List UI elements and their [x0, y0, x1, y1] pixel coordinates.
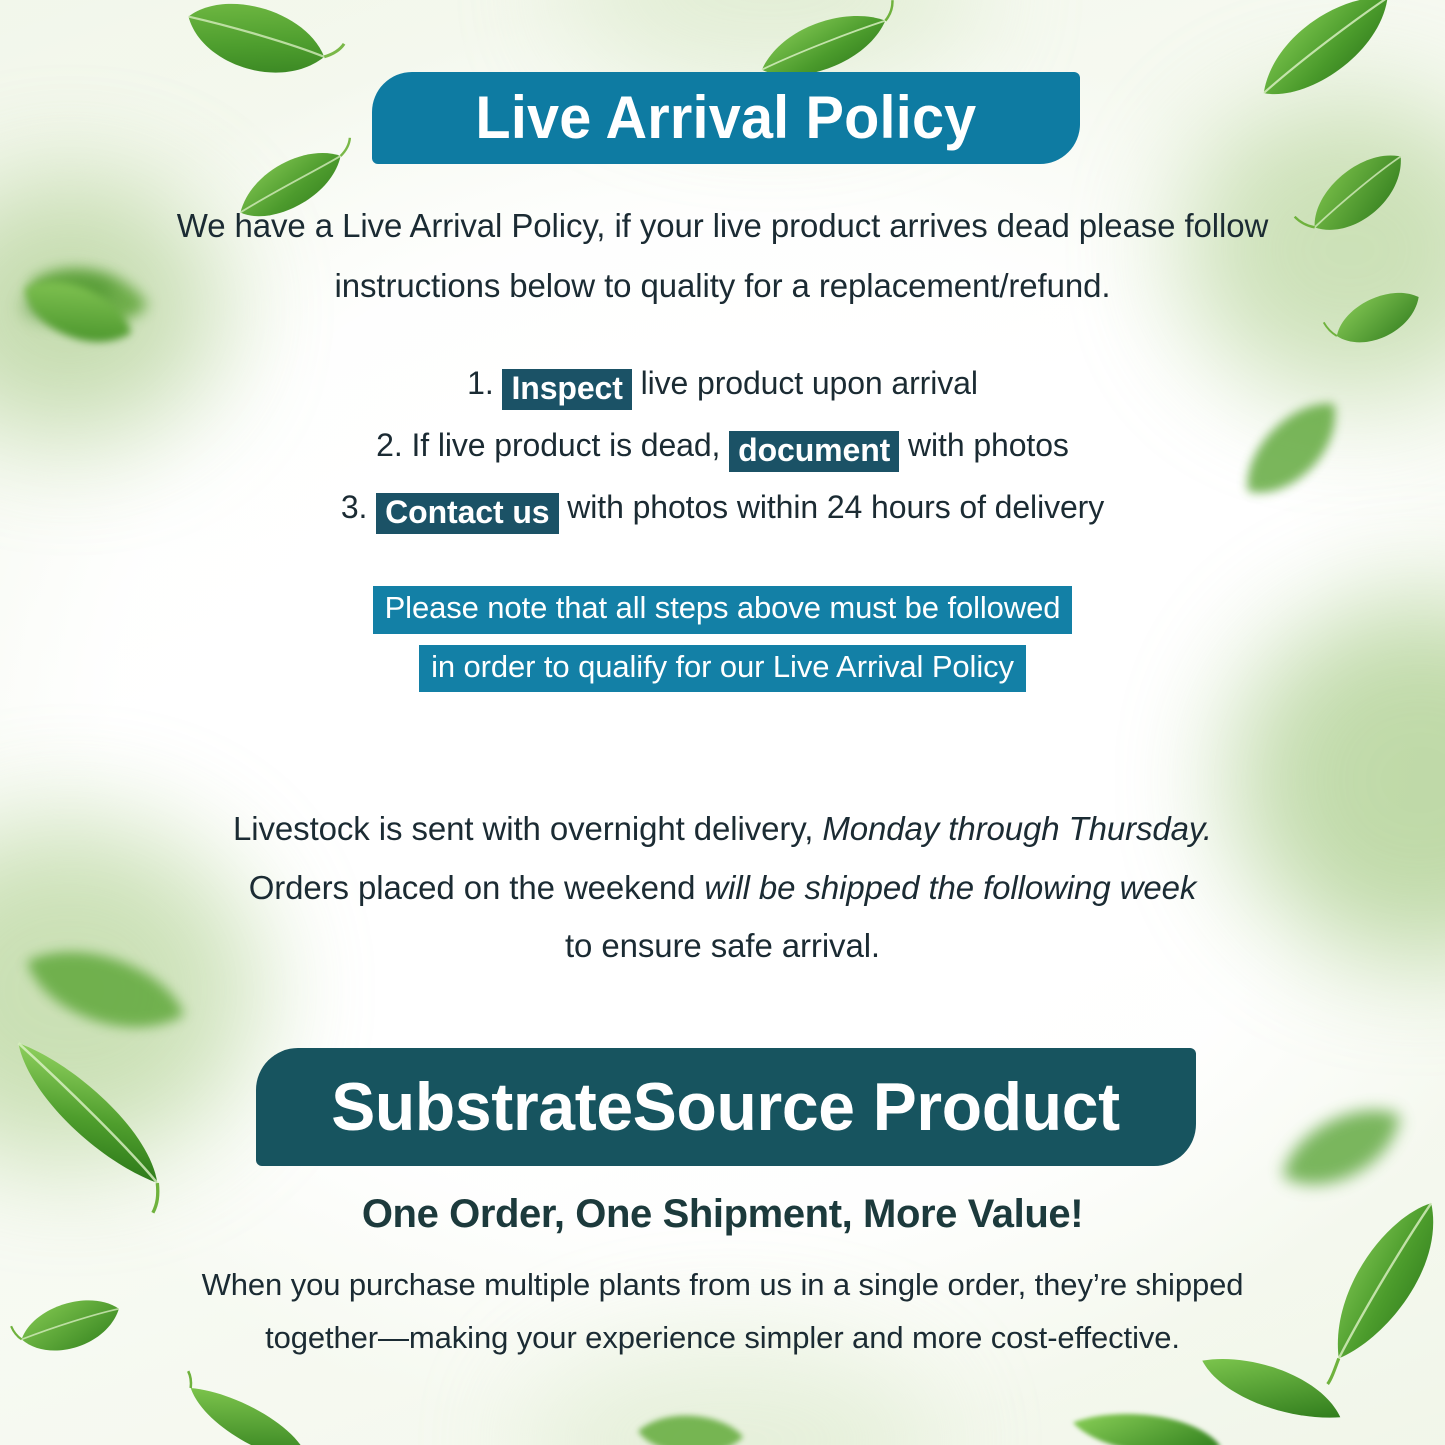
livestock-line-3: to ensure safe arrival. [190, 917, 1255, 976]
livestock-line-2-italic: will be shipped the following week [704, 869, 1196, 906]
livestock-shipping-paragraph: Livestock is sent with overnight deliver… [190, 800, 1255, 976]
livestock-line-1: Livestock is sent with overnight deliver… [190, 800, 1255, 859]
substratesource-product-title: SubstrateSource Product [332, 1073, 1121, 1141]
livestock-line-2: Orders placed on the weekend will be shi… [190, 859, 1255, 918]
note-line-1: Please note that all steps above must be… [373, 586, 1073, 634]
intro-line-1: We have a Live Arrival Policy, if your l… [165, 196, 1280, 256]
closing-line-1: When you purchase multiple plants from u… [170, 1258, 1275, 1311]
intro-line-2: instructions below to quality for a repl… [165, 256, 1280, 316]
step-1-after: live product upon arrival [632, 365, 978, 401]
step-1-number: 1. [467, 365, 494, 401]
policy-step-1: 1. Inspect live product upon arrival [140, 352, 1305, 414]
step-1-highlight[interactable]: Inspect [502, 369, 631, 410]
value-subheading: One Order, One Shipment, More Value! [140, 1192, 1305, 1237]
policy-step-3: 3. Contact us with photos within 24 hour… [140, 476, 1305, 538]
step-2-highlight[interactable]: document [729, 431, 899, 472]
page-title: Live Arrival Policy [476, 88, 977, 148]
livestock-line-1-italic: Monday through Thursday. [822, 810, 1212, 847]
livestock-line-2-plain: Orders placed on the weekend [249, 869, 705, 906]
step-3-after: with photos within 24 hours of delivery [559, 489, 1105, 525]
step-2-before: If live product is dead, [403, 427, 729, 463]
closing-paragraph: When you purchase multiple plants from u… [170, 1258, 1275, 1365]
intro-paragraph: We have a Live Arrival Policy, if your l… [165, 196, 1280, 316]
step-2-number: 2. [376, 427, 403, 463]
step-3-number: 3. [341, 489, 368, 525]
closing-line-2: together—making your experience simpler … [170, 1311, 1275, 1364]
step-3-before [367, 489, 376, 525]
step-3-highlight[interactable]: Contact us [376, 493, 558, 534]
step-2-after: with photos [899, 427, 1069, 463]
policy-step-2: 2. If live product is dead, document wit… [140, 414, 1305, 476]
live-arrival-policy-banner: Live Arrival Policy [372, 72, 1080, 164]
livestock-line-1-plain: Livestock is sent with overnight deliver… [233, 810, 822, 847]
policy-steps-list: 1. Inspect live product upon arrival 2. … [140, 352, 1305, 538]
note-line-2: in order to qualify for our Live Arrival… [419, 645, 1026, 693]
policy-note-block: Please note that all steps above must be… [140, 586, 1305, 703]
substratesource-product-banner: SubstrateSource Product [256, 1048, 1196, 1166]
